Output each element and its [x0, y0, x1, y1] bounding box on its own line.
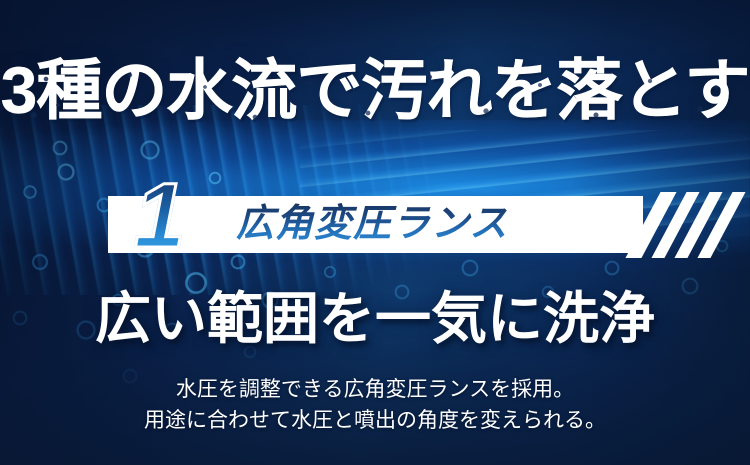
- body-line-1: 水圧を調整できる広角変圧ランスを採用。: [0, 374, 750, 405]
- banner-title: 広角変圧ランス: [236, 202, 508, 248]
- banner-number: 1: [134, 170, 185, 262]
- body-copy: 水圧を調整できる広角変圧ランスを採用。 用途に合わせて水圧と噴出の角度を変えられ…: [0, 374, 750, 436]
- headline-text: 3種の水流で汚れを落とす: [1, 53, 750, 127]
- page-title: 3種の水流で汚れを落とす: [0, 57, 750, 123]
- body-line-2: 用途に合わせて水圧と噴出の角度を変えられる。: [0, 405, 750, 436]
- banner-slash-group: [643, 196, 750, 253]
- promo-poster: 3種の水流で汚れを落とす 1 広角変圧ランス 広い範囲を一気に洗浄 水圧を調整で…: [0, 0, 750, 465]
- subhead: 広い範囲を一気に洗浄: [0, 290, 750, 349]
- feature-banner: 1 広角変圧ランス: [108, 196, 643, 253]
